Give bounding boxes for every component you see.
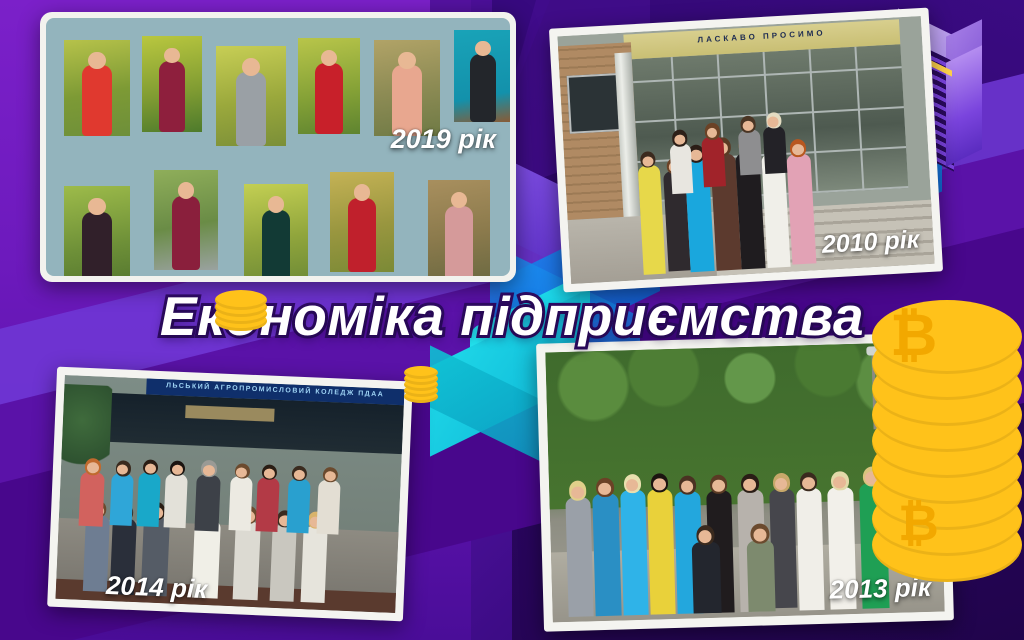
- scene-2014: ЛЬСЬКИЙ АГРОПРОМИСЛОВИЙ КОЛЕДЖ ПДАА: [55, 375, 404, 613]
- scene-2010: ЛАСКАВО ПРОСИМО: [557, 16, 934, 284]
- portrait-head: [164, 48, 180, 64]
- portrait-head: [354, 184, 371, 201]
- portrait-head: [398, 52, 415, 69]
- person-figure: [194, 475, 220, 532]
- portrait-figure: [159, 61, 185, 132]
- portrait-head: [268, 196, 285, 213]
- person-figure: [286, 479, 310, 534]
- person-figure: [300, 526, 327, 603]
- person-figure: [620, 490, 649, 615]
- portrait-figure: [315, 63, 342, 134]
- portrait-figure: [262, 210, 290, 276]
- portrait-photo[interactable]: [330, 172, 394, 272]
- person-figure: [317, 480, 341, 535]
- photo-2010: ЛАСКАВО ПРОСИМО: [557, 16, 934, 284]
- person-figure: [164, 473, 188, 528]
- portrait-head: [88, 52, 105, 69]
- portrait-photo[interactable]: [64, 40, 130, 136]
- person-face: [144, 463, 155, 474]
- person-figure: [79, 472, 105, 527]
- portrait-figure: [445, 206, 472, 276]
- person-figure: [647, 489, 676, 614]
- person-figure: [669, 143, 694, 194]
- portrait-photo[interactable]: [454, 30, 510, 122]
- portrait-photo[interactable]: [154, 170, 218, 270]
- portrait-photo[interactable]: [142, 36, 202, 132]
- person-figure: [592, 494, 621, 616]
- photo-card-2014[interactable]: ЛЬСЬКИЙ АГРОПРОМИСЛОВИЙ КОЛЕДЖ ПДАА 2014…: [47, 367, 413, 622]
- portrait-figure: [348, 198, 376, 272]
- person-figure: [232, 521, 261, 600]
- person-face: [324, 471, 335, 482]
- portrait-photo[interactable]: [374, 40, 440, 136]
- person-figure: [828, 487, 857, 609]
- portrait-figure: [172, 196, 200, 270]
- portrait-photo[interactable]: [244, 184, 308, 276]
- portrait-figure: [470, 54, 496, 122]
- person-face: [263, 468, 274, 479]
- portrait-photo[interactable]: [216, 46, 286, 146]
- person-face: [202, 465, 214, 476]
- portrait-figure: [82, 65, 111, 136]
- portrait-figure: [236, 72, 267, 146]
- person-face: [674, 134, 685, 145]
- person-figure: [738, 129, 762, 175]
- portrait-head: [451, 192, 467, 208]
- coin-stack-title: [215, 290, 273, 332]
- person-figure: [110, 518, 137, 595]
- person-figure: [256, 477, 280, 532]
- portrait-head: [321, 50, 337, 66]
- portrait-head: [88, 198, 105, 215]
- person-figure: [747, 541, 776, 612]
- portrait-photo[interactable]: [298, 38, 360, 134]
- collage-sheet-2019: [46, 18, 510, 276]
- portrait-head: [178, 182, 195, 199]
- portrait-figure: [392, 65, 421, 136]
- coin-stack-right: ₿₿: [872, 300, 1024, 590]
- photo-2014: ЛЬСЬКИЙ АГРОПРОМИСЛОВИЙ КОЛЕДЖ ПДАА: [55, 375, 404, 613]
- person-figure: [110, 473, 134, 525]
- poster-canvas: ₿₿ 2019 рік ЛАСКАВО ПРОСИМО 201: [0, 0, 1024, 640]
- coin-symbol-icon: ₿: [890, 306, 937, 364]
- person-figure: [270, 525, 297, 602]
- person-figure: [796, 488, 825, 610]
- person-face: [571, 486, 584, 499]
- person-figure: [763, 126, 787, 174]
- portrait-figure: [82, 212, 111, 276]
- coin: [215, 290, 267, 310]
- person-figure: [692, 542, 721, 613]
- portrait-head: [475, 41, 490, 56]
- person-figure: [565, 497, 594, 616]
- portrait-row-top: [46, 18, 510, 158]
- photo-card-2019[interactable]: 2019 рік: [40, 12, 516, 282]
- portrait-photo[interactable]: [428, 180, 490, 276]
- person-face: [171, 464, 182, 475]
- coin: [404, 366, 438, 379]
- coin-symbol-icon: ₿: [898, 498, 939, 548]
- person-figure: [228, 476, 252, 531]
- person-figure: [137, 472, 161, 527]
- portrait-photo[interactable]: [64, 186, 130, 276]
- person-figure: [702, 136, 727, 187]
- person-figure: [141, 517, 170, 596]
- person-face: [712, 479, 725, 492]
- portrait-row-bottom: [46, 158, 510, 276]
- photo-card-2010[interactable]: ЛАСКАВО ПРОСИМО 2010 рік: [549, 8, 943, 293]
